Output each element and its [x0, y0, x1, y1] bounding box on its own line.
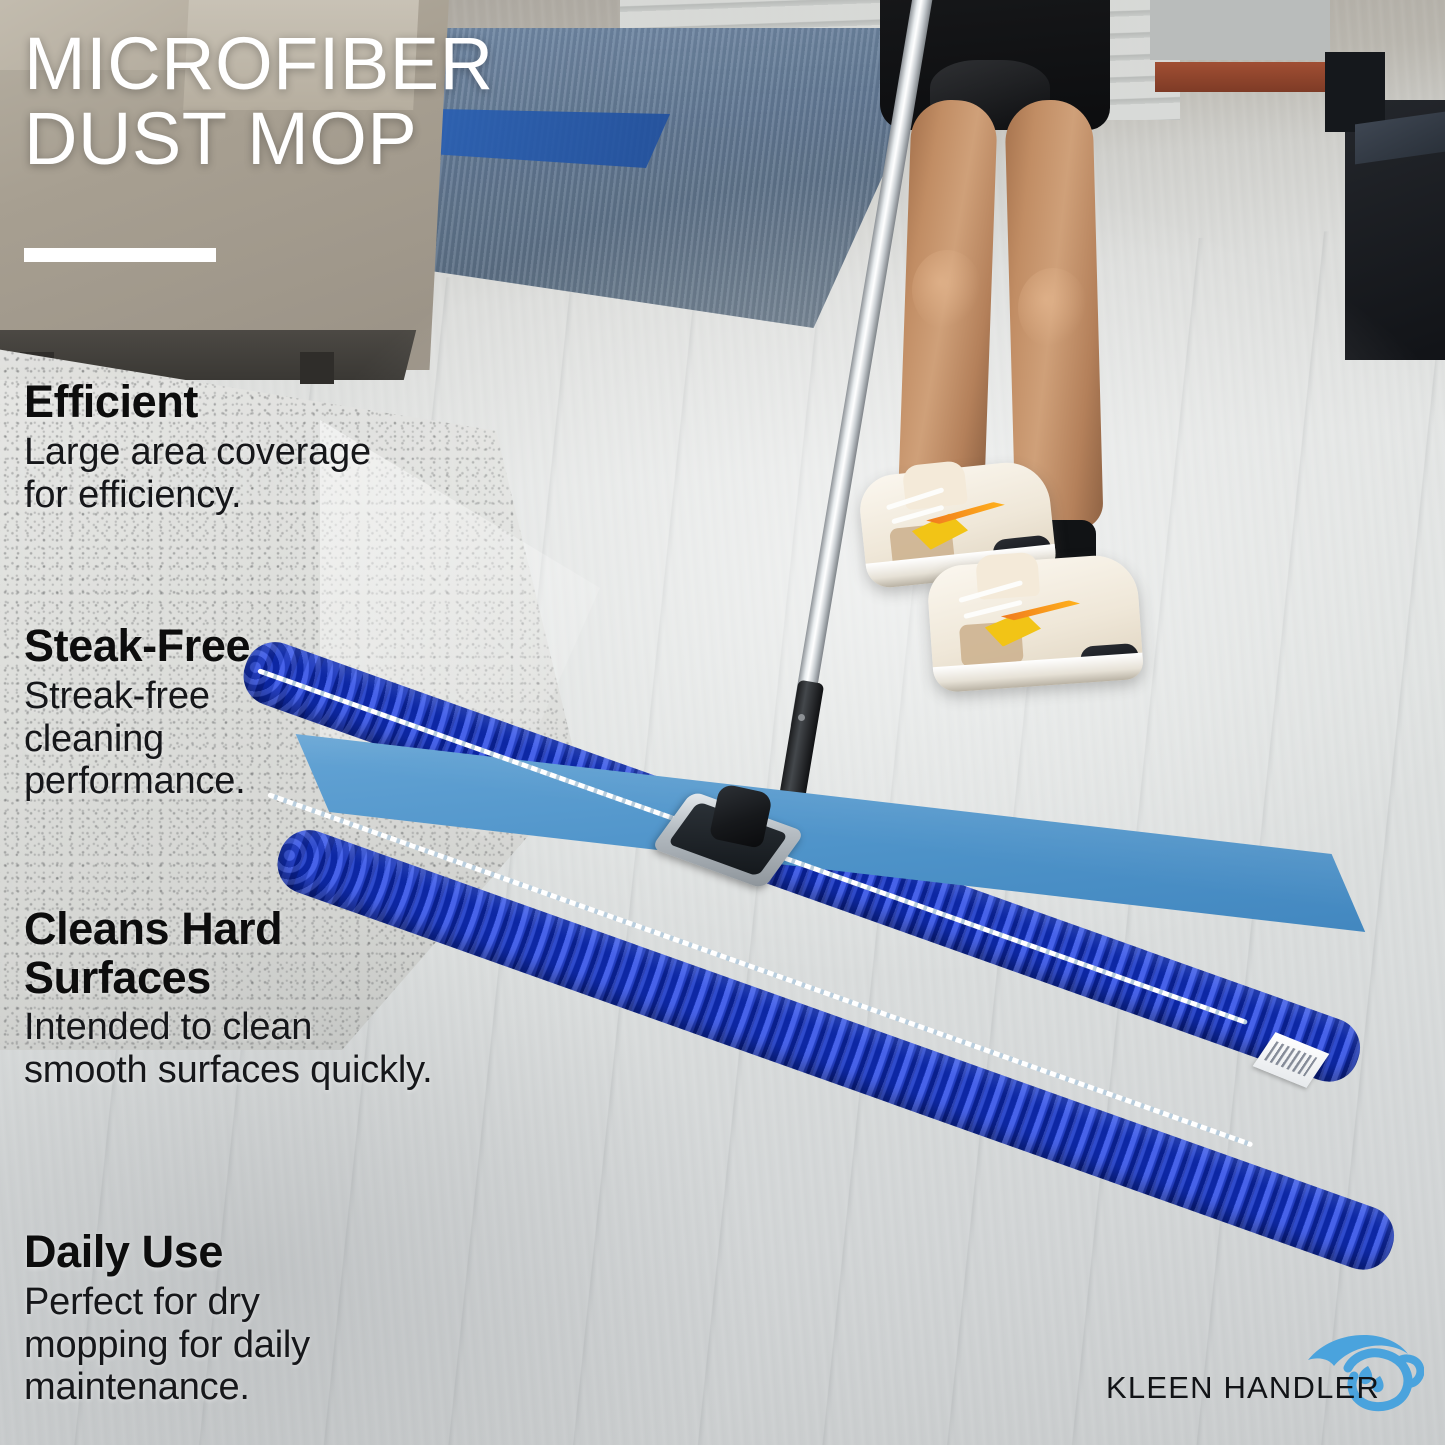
feature-heading: Cleans Hard Surfaces: [24, 905, 432, 1002]
feature-block-streak-free: Steak-Free Streak-free cleaning performa…: [24, 622, 250, 803]
page-title: MICROFIBER DUST MOP: [24, 26, 494, 177]
feature-heading: Efficient: [24, 378, 371, 427]
feature-block-efficient: Efficient Large area coverage for effici…: [24, 378, 371, 516]
feature-heading: Daily Use: [24, 1228, 310, 1277]
text-overlay: MICROFIBER DUST MOP Efficient Large area…: [0, 0, 1445, 1445]
product-feature-image: MICROFIBER DUST MOP Efficient Large area…: [0, 0, 1445, 1445]
feature-body: Perfect for dry mopping for daily mainte…: [24, 1281, 310, 1410]
feature-body: Intended to clean smooth surfaces quickl…: [24, 1006, 432, 1092]
feature-heading: Steak-Free: [24, 622, 250, 671]
feature-body: Streak-free cleaning performance.: [24, 675, 250, 804]
brand-logo: KLEEN HANDLER: [1098, 1336, 1428, 1436]
brand-name: KLEEN HANDLER: [1106, 1370, 1380, 1406]
feature-block-daily-use: Daily Use Perfect for dry mopping for da…: [24, 1228, 310, 1409]
feature-block-cleans-hard-surfaces: Cleans Hard Surfaces Intended to clean s…: [24, 905, 432, 1092]
feature-body: Large area coverage for efficiency.: [24, 431, 371, 517]
title-underline-rule: [24, 248, 216, 262]
